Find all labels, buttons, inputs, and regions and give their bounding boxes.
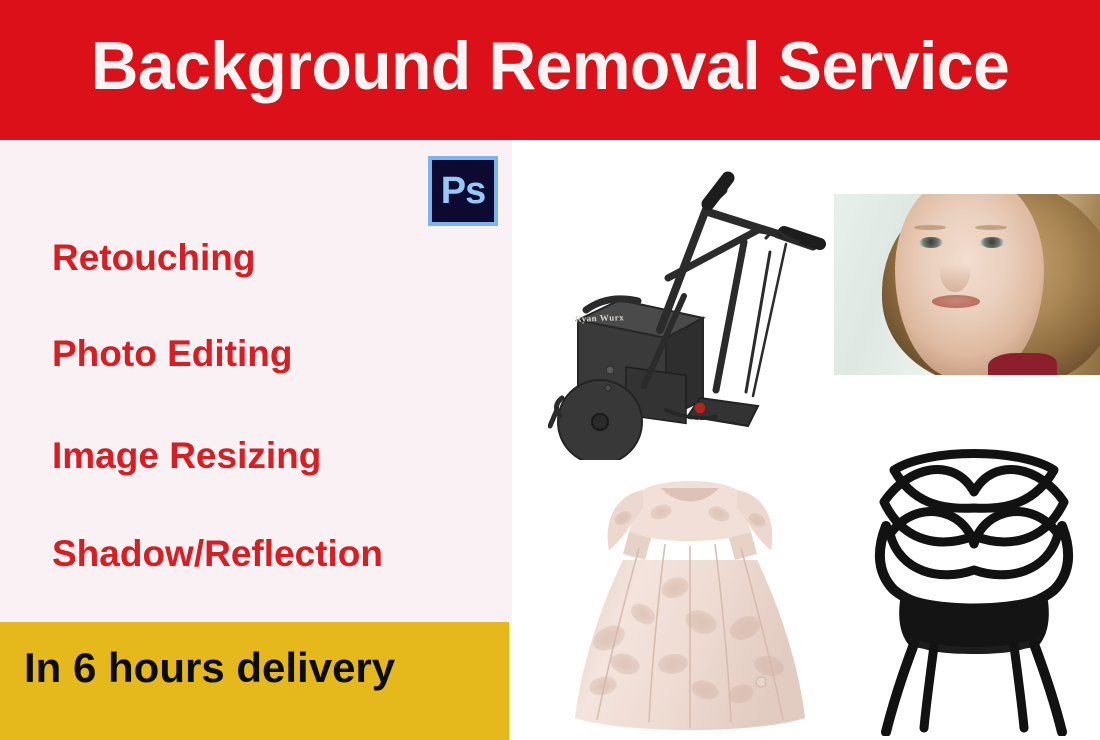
service-item-photo-editing: Photo Editing — [52, 334, 292, 374]
sample-image-dress — [565, 468, 815, 736]
poster-canvas: Background Removal Service Retouching Ph… — [0, 0, 1100, 740]
portrait-shirt — [988, 353, 1057, 375]
header-banner: Background Removal Service — [0, 0, 1100, 140]
sample-image-machine — [548, 160, 848, 460]
portrait-face — [895, 194, 1044, 375]
portrait-lips — [932, 295, 980, 308]
photoshop-icon: Ps — [428, 156, 498, 226]
service-item-retouching: Retouching — [52, 238, 255, 278]
machine-brand-label: Ryan Wurx — [575, 312, 624, 324]
photoshop-icon-label: Ps — [441, 172, 485, 210]
portrait-brow-right — [975, 225, 1007, 230]
delivery-banner-text: In 6 hours delivery — [24, 645, 395, 691]
page-title: Background Removal Service — [17, 26, 1084, 106]
sample-image-portrait — [834, 194, 1100, 375]
portrait-brow-left — [914, 225, 946, 230]
service-item-image-resizing: Image Resizing — [52, 436, 321, 476]
portrait-nose — [940, 252, 969, 292]
sample-image-chair — [868, 440, 1080, 736]
service-item-shadow-reflection: Shadow/Reflection — [52, 534, 383, 574]
